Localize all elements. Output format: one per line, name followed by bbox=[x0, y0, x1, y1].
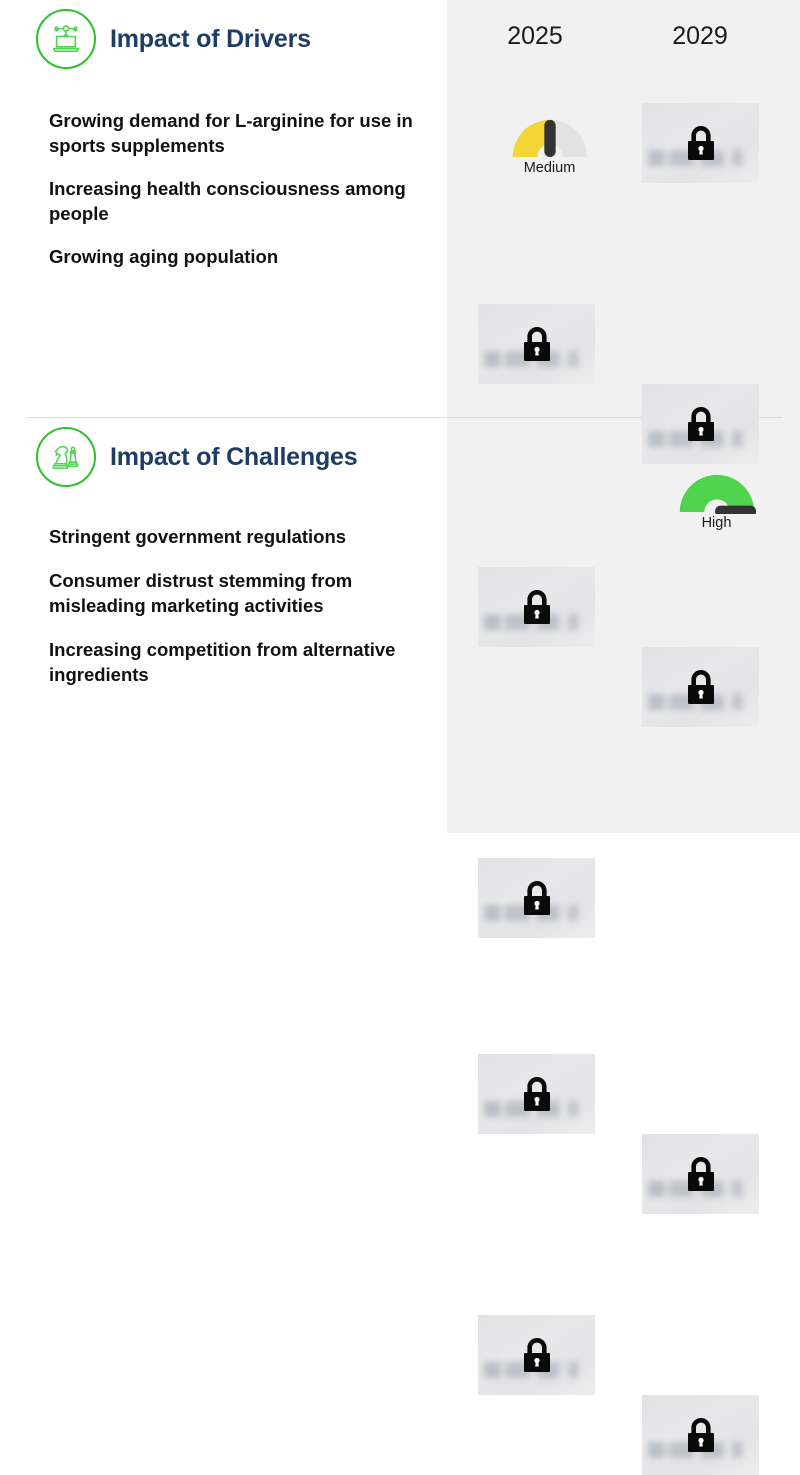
column-header-2025: 2025 bbox=[465, 22, 605, 51]
lock-icon bbox=[517, 1333, 557, 1377]
list-item: Increasing competition from alternative … bbox=[49, 637, 433, 687]
section-title-challenges: Impact of Challenges bbox=[110, 443, 357, 472]
lock-icon bbox=[681, 1413, 721, 1457]
section-title-drivers: Impact of Drivers bbox=[110, 25, 311, 54]
section-drivers: Impact of Drivers Growing demand for L-a… bbox=[0, 0, 447, 287]
gauge-label: Medium bbox=[524, 160, 576, 176]
list-item: Growing demand for L-arginine for use in… bbox=[49, 108, 433, 158]
lock-icon bbox=[517, 876, 557, 920]
impact-cell-challenges-0-2029: High bbox=[658, 460, 775, 540]
impact-cell-drivers-0-2025: Medium bbox=[491, 105, 608, 185]
drivers-item-list: Growing demand for L-arginine for use in… bbox=[0, 108, 447, 269]
section-header-challenges: Impact of Challenges bbox=[0, 418, 447, 496]
impact-cell-drivers-2-2029-locked[interactable] bbox=[642, 647, 759, 727]
section-header-drivers: Impact of Drivers bbox=[0, 0, 447, 78]
impact-cell-challenges-1-2029-locked[interactable] bbox=[642, 1134, 759, 1214]
lock-icon bbox=[517, 1072, 557, 1116]
left-text-column: Impact of Drivers Growing demand for L-a… bbox=[0, 0, 447, 833]
lock-icon bbox=[681, 1152, 721, 1196]
impact-cell-drivers-1-2029-locked[interactable] bbox=[642, 384, 759, 464]
laptop-download-gear-icon bbox=[36, 9, 96, 69]
impact-cell-drivers-0-2029-locked[interactable] bbox=[642, 103, 759, 183]
gauge-label: High bbox=[702, 515, 732, 531]
impact-cell-challenges-2-2025-locked[interactable] bbox=[478, 1315, 595, 1395]
lock-icon bbox=[681, 121, 721, 165]
lock-icon bbox=[681, 402, 721, 446]
chess-pieces-icon bbox=[36, 427, 96, 487]
challenges-item-list: Stringent government regulations Consume… bbox=[0, 524, 447, 687]
impact-cell-challenges-1-2025-locked[interactable] bbox=[478, 1054, 595, 1134]
impact-cell-drivers-1-2025-locked[interactable] bbox=[478, 304, 595, 384]
impact-matrix-infographic: 2025 2029 Impact of D bbox=[0, 0, 800, 833]
list-item: Consumer distrust stemming from misleadi… bbox=[49, 568, 433, 618]
list-item: Growing aging population bbox=[49, 244, 433, 269]
lock-icon bbox=[517, 322, 557, 366]
gauge-high: High bbox=[672, 469, 762, 531]
list-item: Increasing health consciousness among pe… bbox=[49, 176, 433, 226]
list-item: Stringent government regulations bbox=[49, 524, 433, 549]
impact-cell-challenges-2-2029-locked[interactable] bbox=[642, 1395, 759, 1475]
column-header-2029: 2029 bbox=[630, 22, 770, 51]
column-headers: 2025 2029 bbox=[447, 22, 800, 62]
impact-cell-drivers-2-2025-locked[interactable] bbox=[478, 567, 595, 647]
section-challenges: Impact of Challenges Stringent governmen… bbox=[0, 418, 447, 706]
lock-icon bbox=[517, 585, 557, 629]
impact-cell-challenges-0-2025-locked[interactable] bbox=[478, 858, 595, 938]
lock-icon bbox=[681, 665, 721, 709]
gauge-medium: Medium bbox=[505, 114, 595, 176]
